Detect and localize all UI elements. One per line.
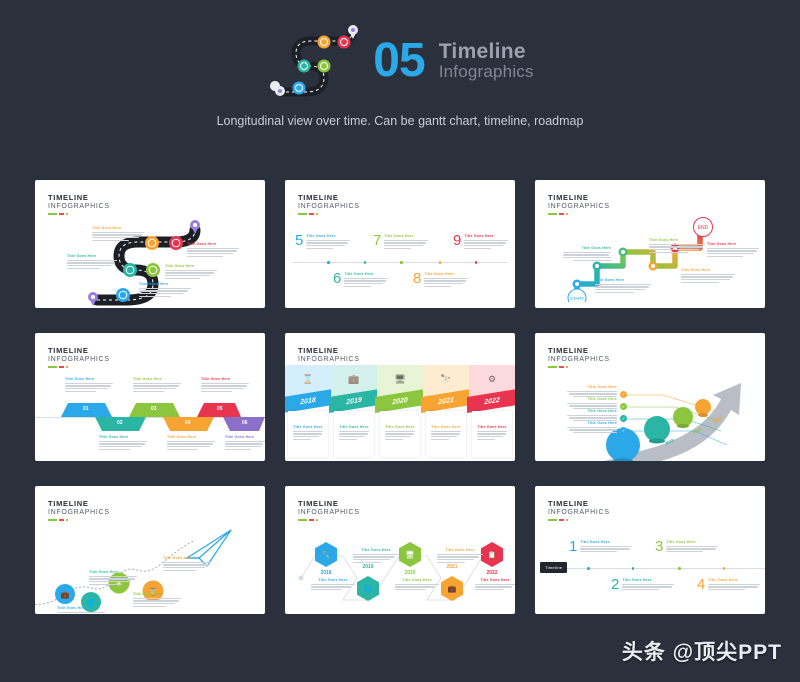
timeline-item: 8 Title Goes Here — [413, 272, 468, 288]
header-title-block: Timeline Infographics — [439, 41, 534, 81]
slide-title-line2: INFOGRAPHICS — [48, 509, 110, 516]
slide-header: TIMELINE INFOGRAPHICS — [48, 193, 110, 215]
body-text — [139, 288, 191, 297]
year-text-card: Title Goes Here — [426, 411, 466, 457]
step-label: 02 — [117, 420, 123, 426]
binoculars-icon: 🔭 — [423, 374, 469, 385]
slide-title-line2: INFOGRAPHICS — [548, 203, 610, 210]
slide-title-line2: INFOGRAPHICS — [48, 203, 110, 210]
caption-block: Title Goes Here — [567, 421, 617, 435]
body-text — [563, 252, 611, 261]
body-text — [681, 274, 735, 283]
timeline-item: 9 Title Goes Here — [453, 234, 508, 250]
slide-title-line1: TIMELINE — [48, 346, 110, 355]
watermark: 头条 @顶尖PPT — [622, 636, 782, 666]
body-text — [649, 244, 705, 253]
slide-grid: TIMELINE INFOGRAPHICS Title Goes Here — [35, 180, 765, 614]
body-text — [67, 260, 117, 269]
body-text — [133, 383, 181, 392]
caption-block: Title Goes Here — [167, 435, 215, 451]
accent-dashes — [48, 519, 110, 521]
body-text — [580, 546, 632, 553]
accent-dashes — [48, 366, 110, 368]
body-text — [89, 576, 137, 585]
slide-header: TIMELINE INFOGRAPHICS — [548, 499, 610, 521]
winding-road-logo-icon — [266, 22, 371, 100]
body-text — [424, 278, 468, 287]
svg-text:💼: 💼 — [61, 591, 70, 599]
slide-body: 🔧 🌐 🖥 💼 📋 2018 2019 2020 2021 2022 Title… — [285, 526, 515, 610]
check-icon: ✓ — [620, 391, 627, 398]
accent-dashes — [548, 366, 610, 368]
slide-body: ✓ ✓ ✓ ✓ Title Goes Here Title Goes Here … — [535, 373, 765, 457]
caption-block: Title Goes Here — [89, 570, 137, 586]
accent-dashes — [548, 519, 610, 521]
step-label: 01 — [83, 406, 89, 412]
year-text-card: Title Goes Here — [380, 411, 420, 457]
body-text — [567, 427, 617, 434]
body-text — [385, 431, 415, 440]
slide-title-line1: TIMELINE — [48, 193, 110, 202]
body-text — [464, 240, 508, 249]
page-title: Timeline — [439, 41, 534, 63]
caption-block: Title Goes Here — [475, 578, 515, 592]
timeline-axis — [293, 262, 507, 263]
body-text — [339, 431, 369, 440]
svg-text:START: START — [570, 296, 585, 301]
slide-title-line1: TIMELINE — [298, 346, 360, 355]
accent-dashes — [298, 519, 360, 521]
caption-block: Title Goes Here — [353, 548, 399, 564]
timeline-item: 7 Title Goes Here — [373, 234, 428, 250]
body-text — [395, 584, 439, 591]
slide-thumbnail-growth-arrow-timeline[interactable]: TIMELINE INFOGRAPHICS ✓ ✓ ✓ — [535, 333, 765, 461]
slide-body: START END Title Goes Here Title Goes Her… — [535, 220, 765, 304]
body-text — [92, 232, 144, 241]
slide-title-line2: INFOGRAPHICS — [298, 203, 360, 210]
year-text-card: Title Goes Here — [334, 411, 374, 457]
year-label: 2022 — [479, 570, 505, 576]
wrench-icon: 🔧 — [322, 551, 331, 559]
body-text — [477, 431, 507, 440]
body-text — [65, 383, 113, 392]
timeline-item: 2 Title Goes Here — [611, 578, 674, 592]
caption-block: Title Goes Here — [649, 238, 705, 254]
slide-title-line1: TIMELINE — [548, 346, 610, 355]
header-main: 05 Timeline Infographics — [0, 22, 800, 100]
slide-title-line2: INFOGRAPHICS — [48, 356, 110, 363]
body-text — [707, 248, 759, 257]
caption-block: Title Goes Here — [187, 242, 239, 258]
caption-block: Title Goes Here — [595, 278, 651, 294]
caption-block: Title Goes Here — [163, 556, 211, 572]
check-icon: ✓ — [620, 427, 627, 434]
body-text — [708, 584, 760, 591]
slide-body: Timeline 1 Title Goes Here 3 Title Goes … — [535, 526, 765, 610]
slide-header: TIMELINE INFOGRAPHICS — [298, 499, 360, 521]
slide-title-line1: TIMELINE — [298, 499, 360, 508]
year-column[interactable]: 💼 2019 Title Goes Here — [331, 365, 377, 457]
caption-block: Title Goes Here — [133, 377, 181, 393]
header-description: Longitudinal view over time. Can be gant… — [0, 112, 800, 130]
globe-icon: 🌐 — [364, 585, 373, 593]
body-text — [225, 441, 265, 450]
year-label: 2021 — [439, 564, 465, 570]
slide-body: ⌛ 2018 Title Goes Here 💼 2019 Title Goes… — [285, 365, 515, 457]
caption-block: Title Goes Here — [437, 548, 483, 564]
step-label: 05 — [217, 406, 223, 412]
slide-thumbnail-road-timeline[interactable]: TIMELINE INFOGRAPHICS Title Goes Here — [35, 180, 265, 308]
accent-dashes — [298, 213, 360, 215]
slide-thumbnail-staircase-timeline[interactable]: TIMELINE INFOGRAPHICS — [535, 180, 765, 308]
slide-body: Title Goes Here Title Goes Here Title Go… — [35, 220, 265, 304]
year-column[interactable]: 🖥 2020 Title Goes Here — [377, 365, 423, 457]
step-label: 06 — [242, 420, 248, 426]
timeline-item: 3 Title Goes Here — [655, 540, 718, 554]
caption-block: Title Goes Here — [139, 282, 191, 298]
page-header: 05 Timeline Infographics Longitudinal vi… — [0, 0, 800, 165]
year-column[interactable]: 🔭 2021 Title Goes Here — [423, 365, 469, 457]
caption-block: Title Goes Here — [395, 578, 439, 592]
accent-dashes — [48, 213, 110, 215]
body-text — [167, 441, 215, 450]
caption-block: Title Goes Here — [57, 606, 105, 614]
timeline-item: 5 Title Goes Here — [295, 234, 350, 250]
body-text — [201, 383, 249, 392]
year-label: 2018 — [313, 570, 339, 576]
slide-body: 💼 🌐 ✈ ⌛ Title Goes Here Title Goes Here … — [35, 526, 265, 610]
body-text — [344, 278, 388, 287]
body-text — [595, 284, 651, 293]
briefcase-icon: 💼 — [448, 585, 457, 593]
slide-body: 01 02 03 04 05 06 Title Goes Here Title … — [35, 373, 265, 457]
slide-header: TIMELINE INFOGRAPHICS — [298, 193, 360, 215]
caption-block: Title Goes Here — [99, 435, 147, 451]
gear-icon: ⚙ — [469, 374, 515, 385]
timeline-badge: Timeline — [540, 562, 567, 573]
caption-block: Title Goes Here — [92, 226, 144, 242]
caption-block: Title Goes Here — [707, 242, 759, 258]
body-text — [133, 598, 181, 607]
year-text-card: Title Goes Here — [472, 411, 512, 457]
slide-title-line2: INFOGRAPHICS — [548, 356, 610, 363]
slide-thumbnail-zigzag-timeline[interactable]: TIMELINE INFOGRAPHICS 01 02 03 04 05 06 … — [35, 333, 265, 461]
caption-block: Title Goes Here — [67, 254, 117, 270]
slide-header: TIMELINE INFOGRAPHICS — [548, 193, 610, 215]
slide-thumbnail-year-columns-timeline[interactable]: TIMELINE INFOGRAPHICS ⌛ 2018 Title Goes … — [285, 333, 515, 461]
body-text — [431, 431, 461, 440]
year-label: 2019 — [355, 564, 381, 570]
slide-body: 5 Title Goes Here 7 Title Goes Here 9 Ti… — [285, 220, 515, 304]
body-text — [666, 546, 718, 553]
slide-title-line1: TIMELINE — [48, 499, 110, 508]
slide-header: TIMELINE INFOGRAPHICS — [48, 346, 110, 368]
timeline-item: 4 Title Goes Here — [697, 578, 760, 592]
monitor-icon: 🖥 — [377, 374, 423, 385]
year-label: 2020 — [397, 570, 423, 576]
body-text — [384, 240, 428, 249]
body-text — [187, 248, 239, 257]
year-column[interactable]: ⚙ 2022 Title Goes Here — [469, 365, 515, 457]
timeline-item: 1 Title Goes Here — [569, 540, 632, 554]
caption-block: Title Goes Here — [563, 246, 611, 262]
body-text — [622, 584, 674, 591]
caption-block: Title Goes Here — [165, 264, 217, 280]
body-text — [57, 612, 105, 615]
body-text — [99, 441, 147, 450]
slide-header: TIMELINE INFOGRAPHICS — [548, 346, 610, 368]
timeline-item: 6 Title Goes Here — [333, 272, 388, 288]
caption-block: Title Goes Here — [225, 435, 265, 451]
slide-title-line1: TIMELINE — [548, 193, 610, 202]
briefcase-icon: 💼 — [331, 374, 377, 385]
slide-title-line2: INFOGRAPHICS — [298, 509, 360, 516]
step-label: 04 — [185, 420, 191, 426]
body-text — [475, 584, 515, 591]
hourglass-icon: ⌛ — [285, 374, 331, 385]
page-subtitle: Infographics — [439, 63, 534, 81]
slide-title-line1: TIMELINE — [548, 499, 610, 508]
year-text-card: Title Goes Here — [288, 411, 328, 457]
check-icon: ✓ — [620, 415, 627, 422]
caption-block: Title Goes Here — [311, 578, 355, 592]
body-text — [353, 554, 399, 563]
step-label: 03 — [151, 406, 157, 412]
body-text — [163, 562, 211, 571]
slide-header: TIMELINE INFOGRAPHICS — [48, 499, 110, 521]
slide-thumbnail-simple-numeric-timeline[interactable]: TIMELINE INFOGRAPHICS Timeline 1 Title G… — [535, 486, 765, 614]
svg-text:END: END — [698, 225, 709, 231]
slide-thumbnail-numeric-timeline[interactable]: TIMELINE INFOGRAPHICS 5 Title Goes Here … — [285, 180, 515, 308]
caption-block: Title Goes Here — [681, 268, 735, 284]
body-text — [165, 270, 217, 279]
body-text — [437, 554, 483, 563]
clipboard-icon: 📋 — [488, 551, 497, 559]
slide-title-line1: TIMELINE — [298, 193, 360, 202]
caption-block: Title Goes Here — [133, 592, 181, 608]
caption-block: Title Goes Here — [201, 377, 249, 393]
slide-thumbnail-paper-plane-timeline[interactable]: TIMELINE INFOGRAPHICS 💼 🌐 ✈ ⌛ — [35, 486, 265, 614]
slide-title-line2: INFOGRAPHICS — [298, 356, 360, 363]
caption-block: Title Goes Here — [65, 377, 113, 393]
body-text — [306, 240, 350, 249]
body-text — [311, 584, 355, 591]
year-column[interactable]: ⌛ 2018 Title Goes Here — [285, 365, 331, 457]
monitor-icon: 🖥 — [406, 551, 415, 559]
check-icon: ✓ — [620, 403, 627, 410]
slide-thumbnail-hexagon-timeline[interactable]: TIMELINE INFOGRAPHICS 🔧 🌐 🖥 💼 — [285, 486, 515, 614]
slide-title-line2: INFOGRAPHICS — [548, 509, 610, 516]
timeline-axis — [543, 568, 765, 569]
section-number: 05 — [373, 37, 424, 85]
body-text — [293, 431, 323, 440]
